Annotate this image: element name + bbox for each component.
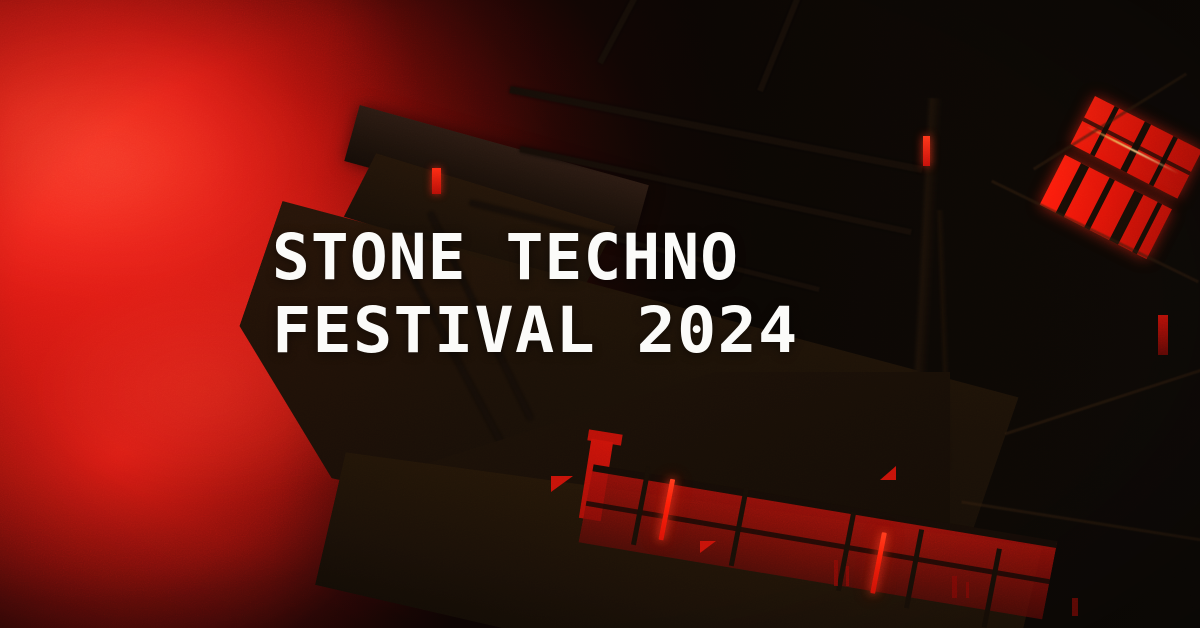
red-light-accent xyxy=(432,168,441,194)
red-ember xyxy=(834,560,838,586)
balustrade-post-cap xyxy=(587,429,622,445)
handrail-diagonal-upper-left xyxy=(597,0,659,64)
poster-title: STONE TECHNO FESTIVAL 2024 xyxy=(272,228,932,362)
red-ember xyxy=(846,566,849,586)
red-ember xyxy=(966,582,969,598)
red-accent-triangle xyxy=(880,466,896,480)
red-ember xyxy=(1072,598,1078,616)
title-line-1: STONE TECHNO xyxy=(272,228,929,288)
illuminated-window-cluster xyxy=(1009,96,1200,352)
handrail-top xyxy=(509,86,923,173)
handrail-diagonal-upper-right xyxy=(757,0,819,92)
red-light-accent xyxy=(923,136,930,166)
red-ember xyxy=(952,576,957,598)
faint-structure-line xyxy=(1005,368,1200,436)
red-light-accent xyxy=(1158,315,1168,355)
red-accent-triangle xyxy=(551,476,573,492)
event-poster: STONE TECHNO FESTIVAL 2024 xyxy=(0,0,1200,628)
balustrade-railing xyxy=(578,452,1057,628)
title-line-2: FESTIVAL 2024 xyxy=(272,301,955,361)
